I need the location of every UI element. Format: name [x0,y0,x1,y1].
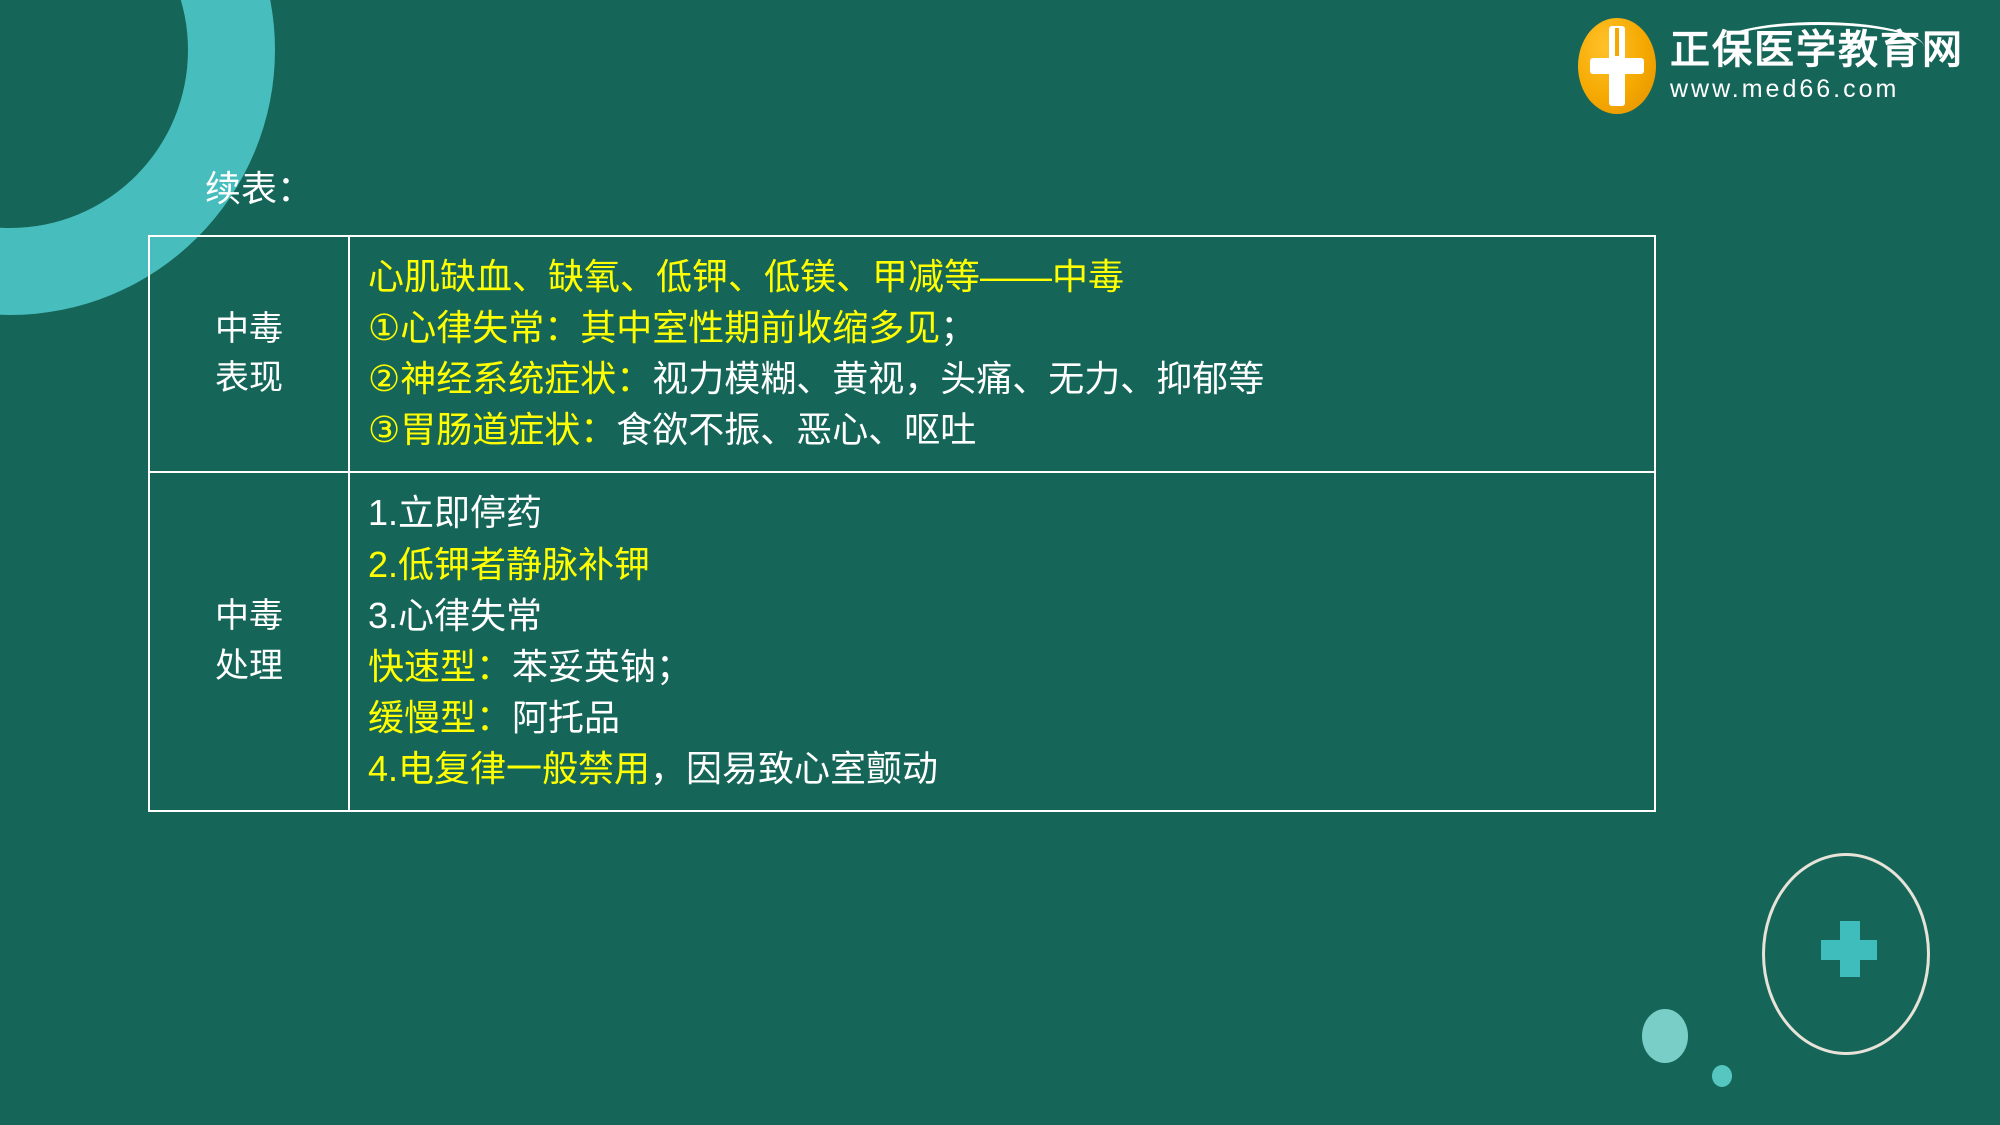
content-segment: ②神经系统症状： [368,358,652,399]
content-segment: 1.立即停药 [368,492,542,533]
table-row-label-line: 中毒 [154,592,344,641]
logo-text-block: 正保医学教育网 www.med66.com [1670,29,1964,104]
content-line: ②神经系统症状：视力模糊、黄视，头痛、无力、抑郁等 [368,353,1634,404]
logo-url: www.med66.com [1670,75,1964,104]
content-segment: ； [940,307,976,348]
page-title: 续表： [205,160,313,212]
medical-cross-logo-icon [1578,18,1656,114]
content-segment: 苯妥英钠； [512,646,692,687]
content-segment: 4.电复律一般禁用 [368,748,650,789]
content-segment: 阿托品 [512,697,620,738]
content-line: 3.心律失常 [368,590,1634,641]
content-segment: ①心律失常：其中室性期前收缩多见 [368,307,940,348]
content-segment: 心肌缺血、缺氧、低钾、低镁、甲减等——中毒 [368,256,1124,297]
content-line: 4.电复律一般禁用，因易致心室颤动 [368,743,1634,794]
logo-swoosh-icon [1714,22,1924,47]
decorative-cross-icon [1821,921,1877,977]
decorative-dot-small [1712,1065,1732,1087]
content-line: 快速型：苯妥英钠； [368,641,1634,692]
content-table: 中毒表现心肌缺血、缺氧、低钾、低镁、甲减等——中毒①心律失常：其中室性期前收缩多… [148,235,1656,812]
content-line: 心肌缺血、缺氧、低钾、低镁、甲减等——中毒 [368,251,1634,302]
content-segment: ，因易致心室颤动 [650,748,938,789]
table-body: 中毒表现心肌缺血、缺氧、低钾、低镁、甲减等——中毒①心律失常：其中室性期前收缩多… [149,236,1655,811]
content-segment: 2.低钾者静脉补钾 [368,544,650,585]
table-row-content: 心肌缺血、缺氧、低钾、低镁、甲减等——中毒①心律失常：其中室性期前收缩多见；②神… [349,236,1655,472]
content-segment: 快速型： [368,646,512,687]
table-row-label-line: 中毒 [154,305,344,354]
slide-canvas: 正保医学教育网 www.med66.com 续表： 中毒表现心肌缺血、缺氧、低钾… [0,0,2000,1125]
content-line: 1.立即停药 [368,487,1634,538]
content-segment: 食欲不振、恶心、呕吐 [616,409,976,450]
table-row-content: 1.立即停药2.低钾者静脉补钾3.心律失常快速型：苯妥英钠；缓慢型：阿托品4.电… [349,472,1655,811]
content-line: 缓慢型：阿托品 [368,692,1634,743]
table-row-label: 中毒表现 [149,236,349,472]
content-segment: 缓慢型： [368,697,512,738]
content-line: ①心律失常：其中室性期前收缩多见； [368,302,1634,353]
table-row: 中毒处理1.立即停药2.低钾者静脉补钾3.心律失常快速型：苯妥英钠；缓慢型：阿托… [149,472,1655,811]
table-row: 中毒表现心肌缺血、缺氧、低钾、低镁、甲减等——中毒①心律失常：其中室性期前收缩多… [149,236,1655,472]
brand-logo: 正保医学教育网 www.med66.com [1578,18,1964,114]
decorative-dot-large [1642,1009,1688,1063]
content-segment: ③胃肠道症状： [368,409,616,450]
content-line: ③胃肠道症状：食欲不振、恶心、呕吐 [368,404,1634,455]
table-row-label-line: 表现 [154,354,344,403]
content-segment: 视力模糊、黄视，头痛、无力、抑郁等 [652,358,1264,399]
content-segment: 3.心律失常 [368,595,542,636]
logo-title: 正保医学教育网 [1670,29,1964,71]
table-row-label-line: 处理 [154,642,344,691]
content-line: 2.低钾者静脉补钾 [368,539,1634,590]
table-row-label: 中毒处理 [149,472,349,811]
